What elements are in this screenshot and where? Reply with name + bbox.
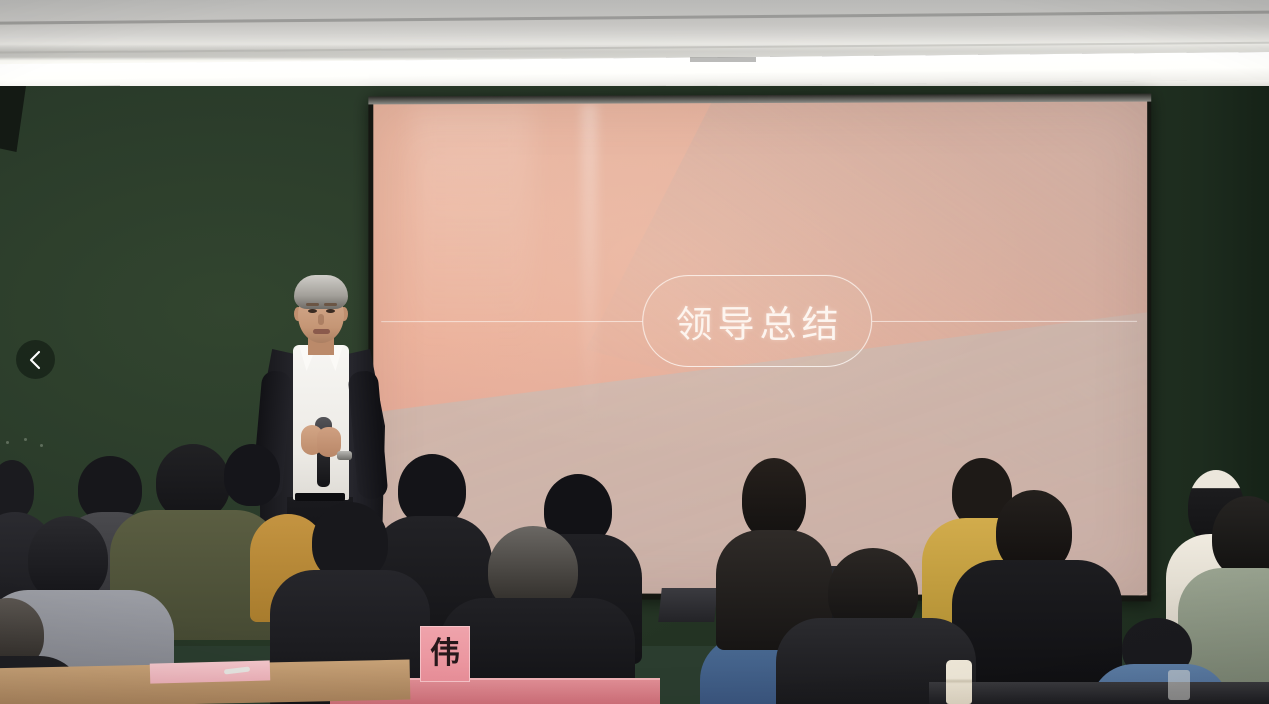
ceiling-seam — [0, 10, 1269, 25]
presenter-eye — [308, 309, 317, 313]
projector-light-streak — [582, 104, 598, 433]
presenter-eye — [326, 309, 335, 313]
presenter-mouth — [313, 329, 330, 334]
slide-title-pill: 领导总结 — [642, 275, 872, 367]
head — [1212, 496, 1269, 578]
head — [224, 444, 280, 506]
placard-character: 伟 — [430, 639, 460, 669]
laptop — [658, 588, 718, 622]
slide-title-row: 领导总结 — [373, 271, 1147, 372]
presenter-hair — [294, 275, 348, 309]
presenter-nose — [318, 314, 324, 325]
photo-viewer: 领导总结 — [0, 0, 1269, 704]
audience: 伟 — [0, 430, 1269, 704]
table-right — [929, 682, 1269, 704]
chevron-left-icon — [28, 349, 43, 371]
name-placard: 伟 — [420, 626, 470, 682]
drinking-cup — [1168, 670, 1190, 700]
head — [156, 444, 230, 520]
presenter-eyebrow — [324, 303, 337, 306]
slide-rule-right — [872, 320, 1137, 321]
head — [0, 460, 34, 520]
ceiling — [0, 0, 1269, 92]
ceiling-vent — [690, 57, 756, 62]
thermos-bottle — [946, 660, 972, 704]
presenter-eyebrow — [306, 303, 319, 306]
previous-image-button[interactable] — [16, 340, 55, 379]
ceiling-seam — [0, 41, 1269, 54]
slide-rule-left — [381, 321, 642, 322]
head — [742, 458, 806, 540]
wall-speaker-box — [0, 86, 26, 152]
slide-heading: 领导总结 — [671, 294, 844, 348]
pink-paper — [150, 660, 270, 683]
